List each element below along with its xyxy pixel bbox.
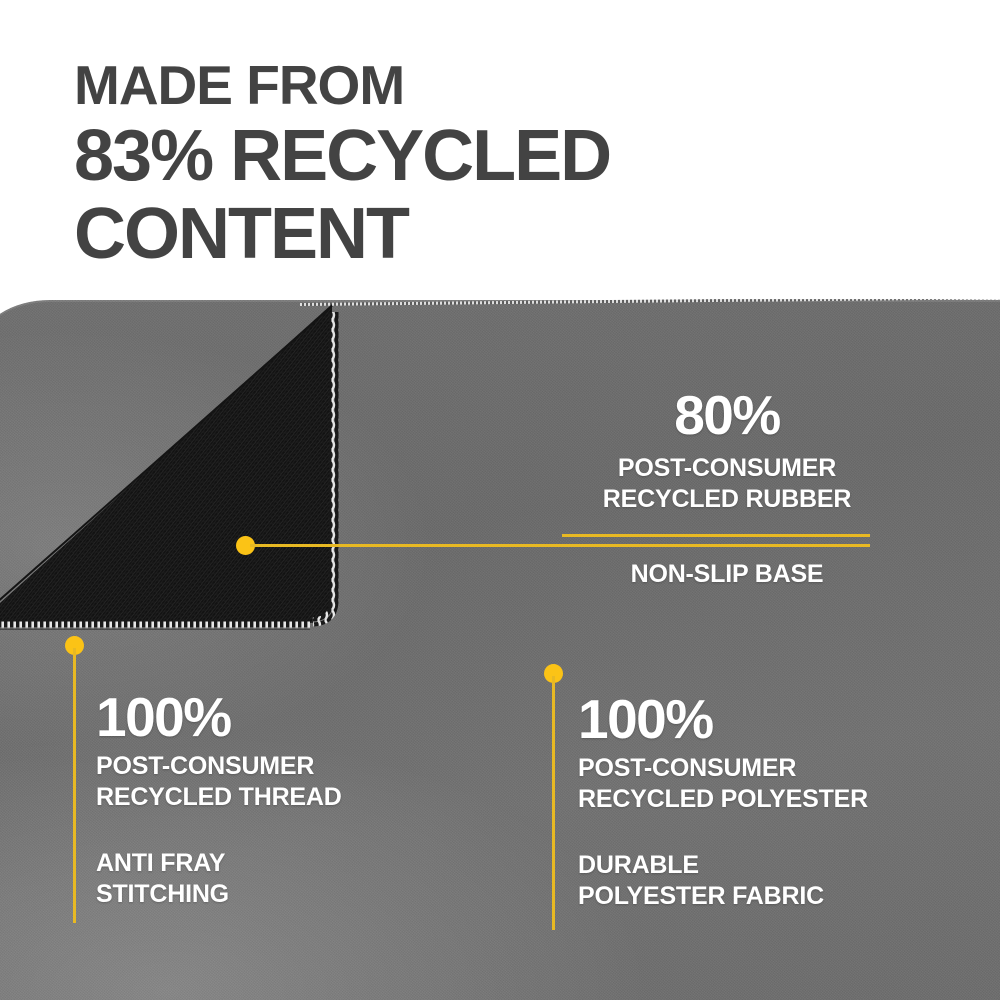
headline-line-2: 83% RECYCLED: [74, 120, 610, 192]
callout-polyester-material-line-1: POST-CONSUMER: [578, 753, 948, 784]
callout-polyester-feature-line-1: DURABLE: [578, 850, 948, 881]
callout-rubber-percent: 80%: [562, 388, 892, 443]
callout-thread-material: POST-CONSUMER RECYCLED THREAD: [96, 751, 426, 814]
callout-rubber-material-line-1: POST-CONSUMER: [562, 453, 892, 484]
callout-thread: 100% POST-CONSUMER RECYCLED THREAD ANTI …: [96, 690, 426, 910]
callout-rubber-material: POST-CONSUMER RECYCLED RUBBER: [562, 453, 892, 516]
callout-polyester-feature: DURABLE POLYESTER FABRIC: [578, 850, 948, 913]
callout-thread-percent: 100%: [96, 690, 426, 745]
callout-thread-feature-line-1: ANTI FRAY: [96, 848, 426, 879]
callout-polyester-material: POST-CONSUMER RECYCLED POLYESTER: [578, 753, 948, 816]
callout-rubber: 80% POST-CONSUMER RECYCLED RUBBER NON-SL…: [562, 388, 892, 590]
callout-thread-feature-line-2: STITCHING: [96, 879, 426, 910]
callout-polyester: 100% POST-CONSUMER RECYCLED POLYESTER DU…: [578, 692, 948, 912]
leader-line-polyester: [552, 676, 555, 930]
headline-line-1: MADE FROM: [74, 58, 610, 113]
page-title: MADE FROM 83% RECYCLED CONTENT: [74, 58, 610, 270]
callout-thread-material-line-2: RECYCLED THREAD: [96, 782, 426, 813]
callout-polyester-feature-line-2: POLYESTER FABRIC: [578, 881, 948, 912]
callout-rubber-feature: NON-SLIP BASE: [562, 559, 892, 590]
callout-polyester-material-line-2: RECYCLED POLYESTER: [578, 784, 948, 815]
callout-rubber-material-line-2: RECYCLED RUBBER: [562, 484, 892, 515]
callout-thread-material-line-1: POST-CONSUMER: [96, 751, 426, 782]
callout-thread-feature: ANTI FRAY STITCHING: [96, 848, 426, 911]
infographic-canvas: MADE FROM 83% RECYCLED CONTENT: [0, 0, 1000, 1000]
headline-line-3: CONTENT: [74, 198, 610, 270]
callout-polyester-percent: 100%: [578, 692, 948, 747]
callout-rubber-divider: [562, 534, 870, 537]
leader-line-thread: [73, 648, 76, 923]
